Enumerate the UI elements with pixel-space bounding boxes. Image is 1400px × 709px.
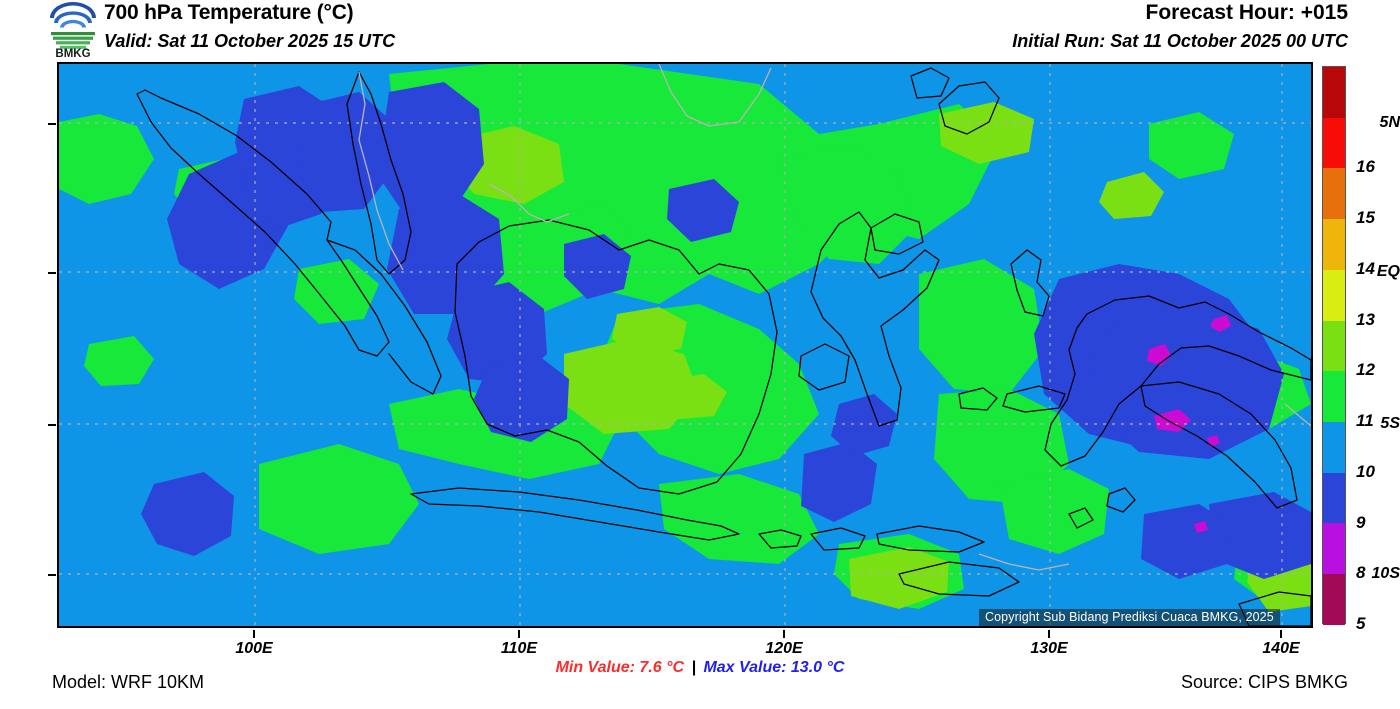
x-tick-label-120e: 120E [765, 640, 802, 658]
x-tick-mark-130e [1048, 630, 1050, 638]
colorbar-tick-16: 16 [1356, 157, 1375, 177]
colorbar-segment-12 [1323, 321, 1345, 372]
min-max-separator: | [689, 659, 699, 676]
y-tick-mark-5s [48, 424, 56, 426]
colorbar-segment-11 [1323, 371, 1345, 422]
colorbar-segment-14 [1323, 219, 1345, 270]
valid-time-label: Valid: Sat 11 October 2025 15 UTC [104, 31, 395, 52]
min-max-bar: Min Value: 7.6 °C | Max Value: 13.0 °C [0, 659, 1400, 677]
forecast-hour-label: Forecast Hour: +015 [1146, 1, 1349, 25]
y-tick-label-5n: 5N [1348, 114, 1400, 132]
x-tick-mark-120e [783, 630, 785, 638]
forecast-chart-page: BMKG 700 hPa Temperature (°C) Valid: Sat… [0, 0, 1400, 709]
colorbar-segment-15 [1323, 168, 1345, 219]
colorbar-segment-9 [1323, 473, 1345, 524]
colorbar-tick-5: 5 [1356, 614, 1365, 634]
map-canvas [59, 64, 1311, 626]
x-tick-label-140e: 140E [1262, 640, 1299, 658]
y-tick-mark-eq [48, 272, 56, 274]
colorbar-tick-15: 15 [1356, 208, 1375, 228]
colorbar-tick-9: 9 [1356, 513, 1365, 533]
colorbar-tick-10: 10 [1356, 462, 1375, 482]
colorbar-tick-13: 13 [1356, 310, 1375, 330]
colorbar-tick-8: 8 [1356, 563, 1365, 583]
max-value-label: Max Value: 13.0 °C [703, 659, 844, 676]
x-tick-mark-100e [253, 630, 255, 638]
min-value-label: Min Value: 7.6 °C [556, 659, 685, 676]
initial-run-label: Initial Run: Sat 11 October 2025 00 UTC [1012, 31, 1348, 52]
colorbar-tick-11: 11 [1356, 411, 1374, 431]
x-tick-mark-140e [1280, 630, 1282, 638]
logo-text: BMKG [55, 48, 90, 58]
colorbar-segment-10 [1323, 422, 1345, 473]
colorbar-segment-top [1323, 67, 1345, 118]
logo-green-stripes [51, 32, 95, 49]
colorbar[interactable] [1322, 66, 1346, 624]
y-tick-mark-10s [48, 574, 56, 576]
logo-blue-arcs [50, 2, 96, 28]
x-tick-label-100e: 100E [235, 640, 272, 658]
y-tick-mark-5n [48, 123, 56, 125]
forecast-map[interactable]: Copyright Sub Bidang Prediksi Cuaca BMKG… [57, 62, 1313, 628]
colorbar-segment-5 [1323, 574, 1345, 625]
x-tick-label-130e: 130E [1030, 640, 1067, 658]
colorbar-segment-13 [1323, 270, 1345, 321]
x-tick-mark-110e [518, 630, 520, 638]
page-title: 700 hPa Temperature (°C) [104, 1, 353, 25]
colorbar-segment-8 [1323, 523, 1345, 574]
colorbar-segment-16 [1323, 118, 1345, 169]
x-tick-label-110e: 110E [501, 640, 537, 658]
colorbar-tick-14: 14 [1356, 259, 1375, 279]
copyright-watermark: Copyright Sub Bidang Prediksi Cuaca BMKG… [979, 609, 1280, 626]
colorbar-tick-12: 12 [1356, 360, 1375, 380]
bmkg-logo: BMKG [40, 2, 106, 58]
